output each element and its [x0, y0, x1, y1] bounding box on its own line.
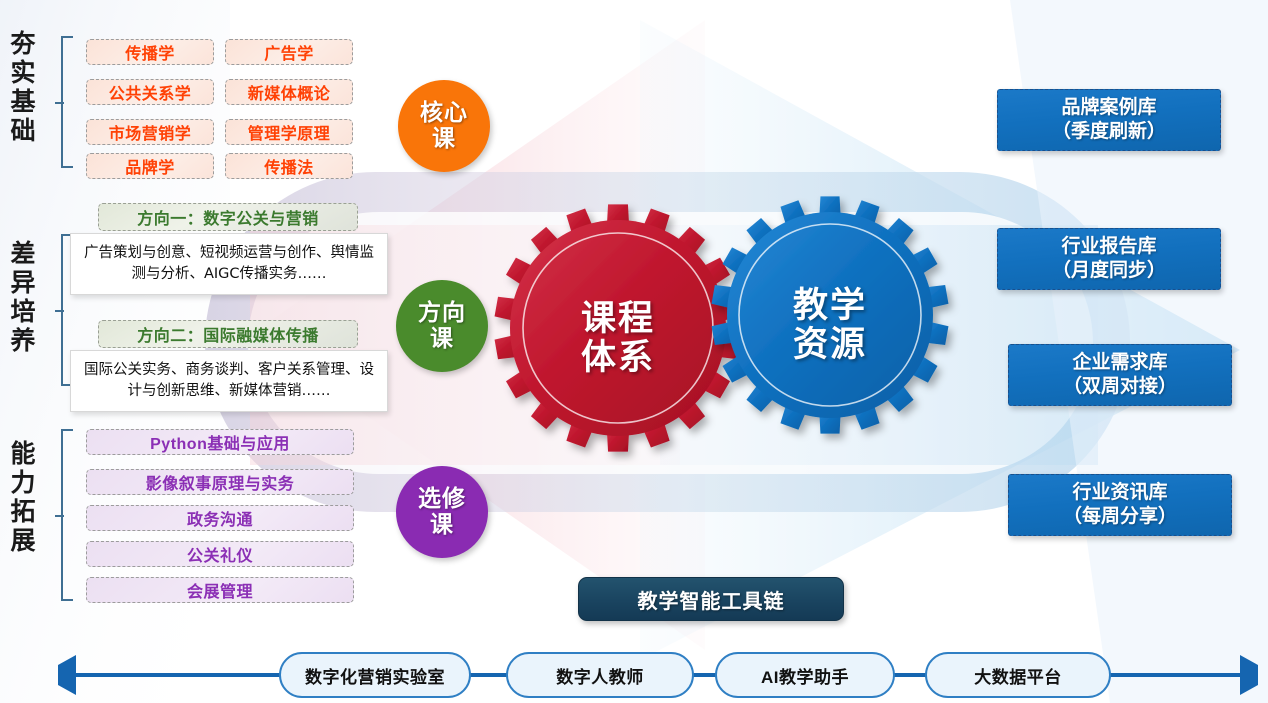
core-course-chip[interactable]: 传播法: [225, 153, 353, 179]
circle-elective-course[interactable]: 选修课: [396, 466, 488, 558]
core-course-chip[interactable]: 新媒体概论: [225, 79, 353, 105]
bracket-foundation: [55, 36, 75, 168]
core-course-chip[interactable]: 公共关系学: [86, 79, 214, 105]
gear-group: [490, 130, 1050, 550]
toolchain-label: 教学智能工具链: [638, 585, 785, 614]
core-course-chip[interactable]: 管理学原理: [225, 119, 353, 145]
platform-capsule-digital-human-teacher[interactable]: 数字人教师: [506, 652, 694, 698]
elective-course-chip[interactable]: Python基础与应用: [86, 429, 354, 455]
category-label-capability: 能力拓展: [8, 440, 35, 556]
circle-core-course-label: 核心课: [420, 100, 468, 152]
circle-elective-course-label: 选修课: [418, 486, 466, 538]
elective-course-chip[interactable]: 公关礼仪: [86, 541, 354, 567]
gear-curriculum-system[interactable]: [495, 204, 742, 451]
elective-course-chip[interactable]: 政务沟通: [86, 505, 354, 531]
diagram-canvas: 夯实基础 差异培养 能力拓展 传播学 广告学 公共关系学 新媒体概论 市场营销学…: [0, 0, 1268, 703]
circle-core-course[interactable]: 核心课: [398, 80, 490, 172]
category-label-foundation: 夯实基础: [8, 30, 35, 146]
platform-capsule-digital-marketing-lab[interactable]: 数字化营销实验室: [279, 652, 471, 698]
toolchain-box[interactable]: 教学智能工具链: [578, 577, 844, 621]
core-course-chip[interactable]: 品牌学: [86, 153, 214, 179]
direction-heading-1[interactable]: 方向一：数字公关与营销: [98, 203, 358, 231]
core-course-chip[interactable]: 广告学: [225, 39, 353, 65]
direction-detail-2: 国际公关实务、商务谈判、客户关系管理、设计与创新思维、新媒体营销……: [70, 350, 388, 412]
bracket-capability: [55, 429, 75, 601]
direction-heading-2[interactable]: 方向二：国际融媒体传播: [98, 320, 358, 348]
category-label-differentiation: 差异培养: [8, 240, 35, 356]
core-course-chip[interactable]: 市场营销学: [86, 119, 214, 145]
direction-detail-1: 广告策划与创意、短视频运营与创作、舆情监测与分析、AIGC传播实务……: [70, 233, 388, 295]
elective-course-chip[interactable]: 会展管理: [86, 577, 354, 603]
core-course-chip[interactable]: 传播学: [86, 39, 214, 65]
circle-direction-course[interactable]: 方向课: [396, 280, 488, 372]
gear-teaching-resources[interactable]: [712, 196, 949, 433]
platform-capsule-ai-teaching-assistant[interactable]: AI教学助手: [715, 652, 895, 698]
circle-direction-course-label: 方向课: [418, 300, 466, 352]
platform-capsule-big-data-platform[interactable]: 大数据平台: [925, 652, 1111, 698]
elective-course-chip[interactable]: 影像叙事原理与实务: [86, 469, 354, 495]
